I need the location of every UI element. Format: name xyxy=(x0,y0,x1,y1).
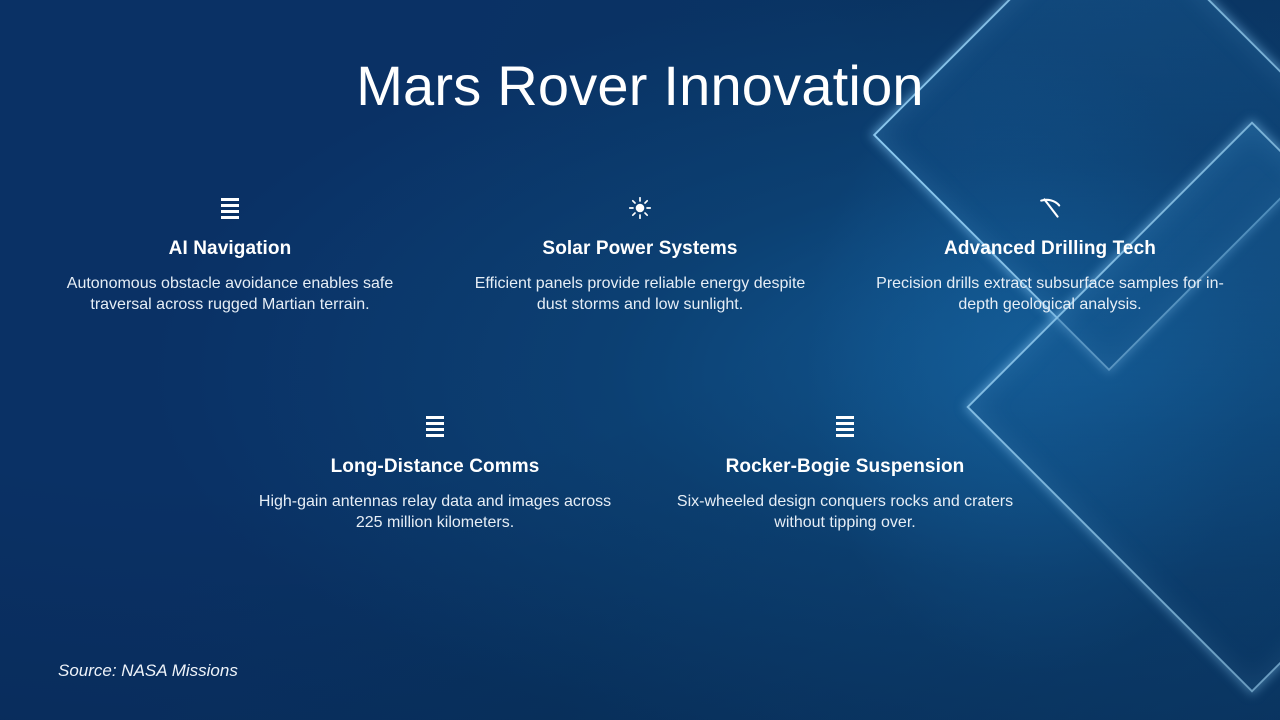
sun-icon xyxy=(460,188,820,228)
page-title: Mars Rover Innovation xyxy=(0,52,1280,120)
source-note: Source: NASA Missions xyxy=(58,660,238,682)
stacked-lines-icon xyxy=(665,406,1025,446)
stacked-lines-icon xyxy=(50,188,410,228)
feature-card-body: Autonomous obstacle avoidance enables sa… xyxy=(50,273,410,315)
feature-row-top: AI Navigation Autonomous obstacle avoida… xyxy=(0,188,1280,315)
slide-content: Mars Rover Innovation AI Navigation Auto… xyxy=(0,0,1280,720)
feature-card-title: Advanced Drilling Tech xyxy=(870,236,1230,262)
pickaxe-icon xyxy=(870,188,1230,228)
feature-card-body: High-gain antennas relay data and images… xyxy=(255,491,615,533)
feature-card-title: AI Navigation xyxy=(50,236,410,262)
feature-card-long-distance-comms: Long-Distance Comms High-gain antennas r… xyxy=(230,406,640,533)
stacked-lines-icon xyxy=(255,406,615,446)
feature-card-body: Six-wheeled design conquers rocks and cr… xyxy=(665,491,1025,533)
feature-card-title: Long-Distance Comms xyxy=(255,454,615,480)
feature-card-ai-navigation: AI Navigation Autonomous obstacle avoida… xyxy=(25,188,435,315)
feature-card-title: Solar Power Systems xyxy=(460,236,820,262)
feature-row-bottom: Long-Distance Comms High-gain antennas r… xyxy=(230,406,1050,533)
feature-card-solar-power-systems: Solar Power Systems Efficient panels pro… xyxy=(435,188,845,315)
slide-canvas: Mars Rover Innovation AI Navigation Auto… xyxy=(0,0,1280,720)
feature-card-advanced-drilling-tech: Advanced Drilling Tech Precision drills … xyxy=(845,188,1255,315)
feature-card-title: Rocker-Bogie Suspension xyxy=(665,454,1025,480)
feature-card-body: Efficient panels provide reliable energy… xyxy=(460,273,820,315)
feature-card-body: Precision drills extract subsurface samp… xyxy=(870,273,1230,315)
feature-card-rocker-bogie-suspension: Rocker-Bogie Suspension Six-wheeled desi… xyxy=(640,406,1050,533)
